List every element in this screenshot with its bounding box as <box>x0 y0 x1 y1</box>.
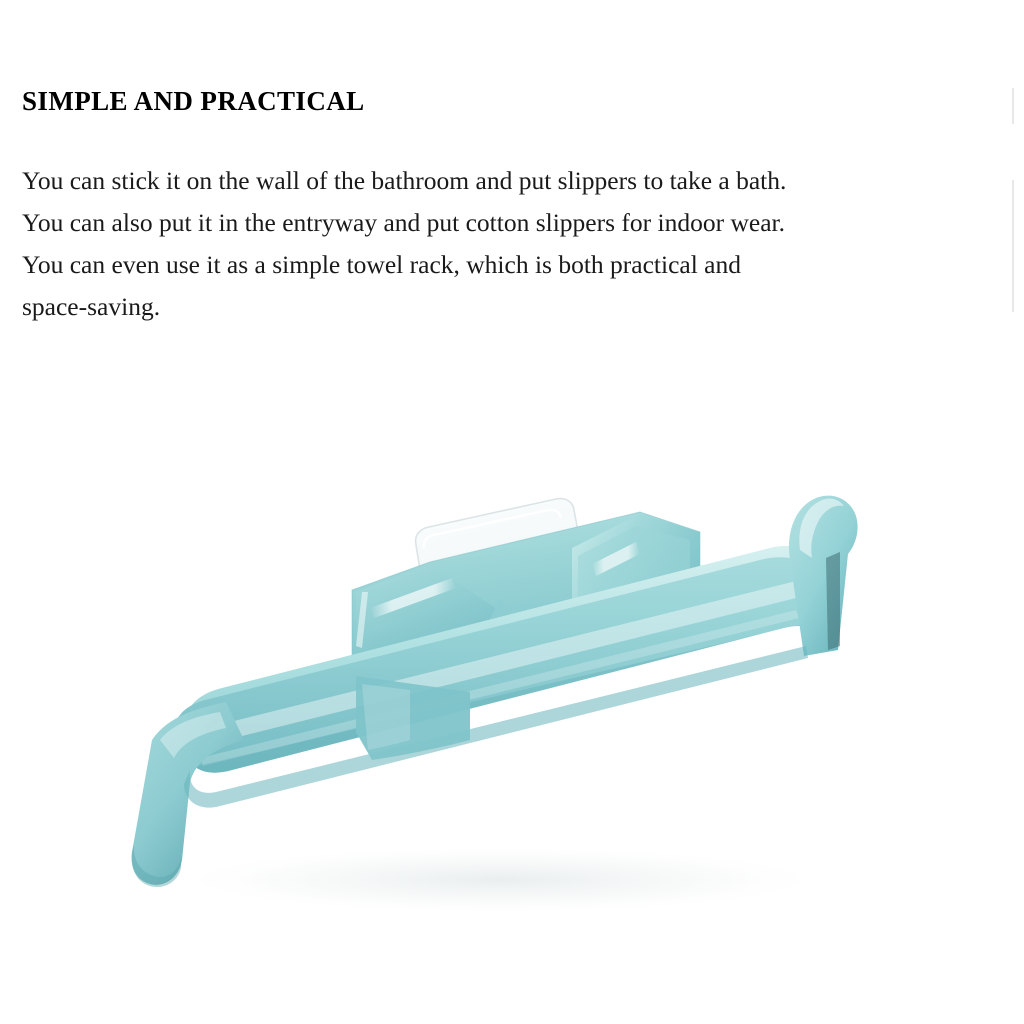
paragraph-line-2: You can also put it in the entryway and … <box>22 202 967 244</box>
description-text-block: SIMPLE AND PRACTICAL You can stick it on… <box>22 84 982 328</box>
towel-rack-illustration <box>0 440 1024 960</box>
description-paragraph: You can stick it on the wall of the bath… <box>22 118 967 328</box>
paragraph-line-4: space-saving. <box>22 286 967 328</box>
paragraph-line-1: You can stick it on the wall of the bath… <box>22 160 967 202</box>
product-image <box>0 440 1024 960</box>
product-shadow <box>170 846 830 914</box>
page-edge-artifact-top <box>1012 88 1014 124</box>
bracket-lower-leg-shine <box>362 684 410 750</box>
right-upturned-tip <box>789 496 858 656</box>
page-edge-artifact-middle <box>1012 180 1014 312</box>
page-title: SIMPLE AND PRACTICAL <box>22 84 982 118</box>
product-description-page: SIMPLE AND PRACTICAL You can stick it on… <box>0 0 1024 1024</box>
paragraph-line-3: You can even use it as a simple towel ra… <box>22 244 967 286</box>
